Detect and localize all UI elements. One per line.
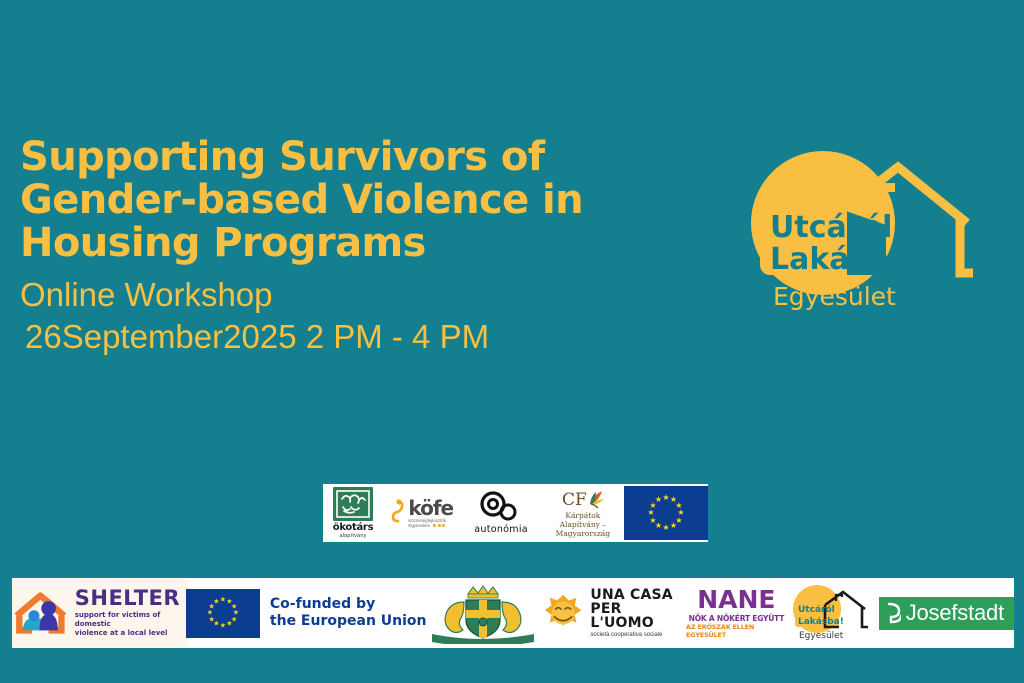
title-line-2: Gender-based Violence in [20,179,660,222]
casa-tagline: società cooperativa sociale [590,632,686,638]
logo-text-line3: Egyesület [773,282,896,311]
headline-block: Supporting Survivors of Gender-based Vio… [20,136,660,358]
coat-of-arms-icon [424,582,542,644]
nane-logo: NANE NŐK A NŐKÉRT EGYÜTT AZ ERŐSZAK ELLE… [686,578,787,648]
okotars-subtitle: alapítvány [339,533,366,539]
autonomia-rings-icon [478,491,524,521]
utcarol-small-line3: Egyesület [799,631,844,641]
nane-tagline-line2: AZ ERŐSZAK ELLEN EGYESÜLET [686,623,787,639]
eu-star-icon: ★ [662,494,669,502]
shelter-logo: SHELTER support for victims of domestic … [12,578,188,648]
utcarol-small-line1: Utcáról [798,604,835,615]
shelter-tagline-line2: violence at a local level [75,629,168,637]
josefstadt-mark-icon [887,602,901,624]
karpatok-name-line3: Magyarország [556,529,610,538]
event-type-label: Online Workshop [20,274,660,316]
eu-star-icon: ★ [220,597,226,604]
casa-wordmark-line1: UNA CASA [590,588,686,602]
shelter-wordmark: SHELTER [75,588,188,609]
eu-star-icon: ★ [662,524,669,532]
karpatok-cf-icon: CF [561,487,605,511]
kofe-wordmark: köfe [408,498,453,518]
josefstadt-wordmark: Josefstadt [906,602,1004,624]
karpatok-name: Kárpátok Alapítvány – Magyarország [556,512,610,539]
eu-star-icon: ★ [649,517,656,525]
eu-star-icon: ★ [213,598,219,605]
una-casa-sun-icon [542,592,584,634]
una-casa-per-luomo-logo: UNA CASA PER L'UOMO società cooperativa … [542,578,686,648]
event-datetime-label: 26September2025 2 PM - 4 PM [20,316,660,358]
okotars-name: ökotárs [333,522,373,533]
okotars-mark-icon [333,487,373,521]
utcarol-small-line2: Lakásba! [798,617,844,627]
autonomia-name: autonómia [474,524,528,535]
kofe-dots-icon [433,524,445,527]
eu-star-icon: ★ [655,496,662,504]
eu-flag-icon-small: ★★★★★★★★★★★★ [186,589,260,638]
utcarol-lakasba-logo-graphic: Utcáról Lakásba! Egyesület [735,145,995,320]
eu-cofunded-line2: the European Union [270,613,427,629]
kofe-figure-icon [390,498,406,528]
eu-star-icon: ★ [647,509,654,517]
eu-flag-icon: ★★★★★★★★★★★★ [624,486,708,540]
donor-logo-strip: ökotárs alapítvány köfe Közösségfejleszt… [323,484,708,542]
kofe-logo: köfe Közösségfejlesztők Egyesülete [383,484,460,542]
kofe-subtitle-line2: Egyesülete [408,523,430,528]
eu-star-icon: ★ [670,522,677,530]
coat-of-arms-logo [424,578,542,648]
logo-text-line2: Lakásba! [770,242,923,277]
eu-flag-donor: ★★★★★★★★★★★★ [624,484,708,542]
eu-cofunded-line1: Co-funded by [270,596,375,612]
svg-text:CF: CF [562,490,587,510]
title-line-1: Supporting Survivors of [20,136,660,179]
shelter-tagline-line1: support for victims of domestic [75,611,161,628]
shelter-house-family-icon [12,588,69,638]
eu-star-icon: ★ [226,621,232,628]
okotars-logo: ökotárs alapítvány [323,484,383,542]
eu-star-icon: ★ [209,616,215,623]
kofe-subtitle-line1: Közösségfejlesztők [408,518,446,523]
nane-wordmark: NANE [697,587,775,612]
utcarol-lakasba-logo-small: Utcáról Lakásba! Egyesület [787,578,879,648]
partner-logo-bar: SHELTER support for victims of domestic … [12,578,1014,648]
casa-wordmark-line2: PER L'UOMO [590,602,686,631]
josefstadt-logo: Josefstadt [879,578,1014,648]
eu-cofunded-logo: ★★★★★★★★★★★★ Co-funded by the European U… [188,578,424,648]
poster-canvas: Supporting Survivors of Gender-based Vio… [0,0,1024,683]
eu-star-icon: ★ [207,610,213,617]
title-line-3: Housing Programs [20,222,660,265]
okotars-frog-icon [336,490,370,518]
utcarol-lakasba-logo: Utcáról Lakásba! Egyesület [735,145,995,320]
karpatok-logo: CF Kárpátok Alapítvány – Magyarország [542,484,624,542]
autonomia-logo: autonómia [460,484,541,542]
eu-star-icon: ★ [220,623,226,630]
page-title: Supporting Survivors of Gender-based Vio… [20,136,660,266]
karpatok-name-line2: Alapítvány – [560,520,606,529]
logo-text-line1: Utcáról [770,210,892,245]
nane-tagline-line1: NŐK A NŐKÉRT EGYÜTT [689,614,784,623]
karpatok-name-line1: Kárpátok [565,511,600,520]
utcarol-lakasba-small-graphic: Utcáról Lakásba! Egyesület [787,584,879,642]
